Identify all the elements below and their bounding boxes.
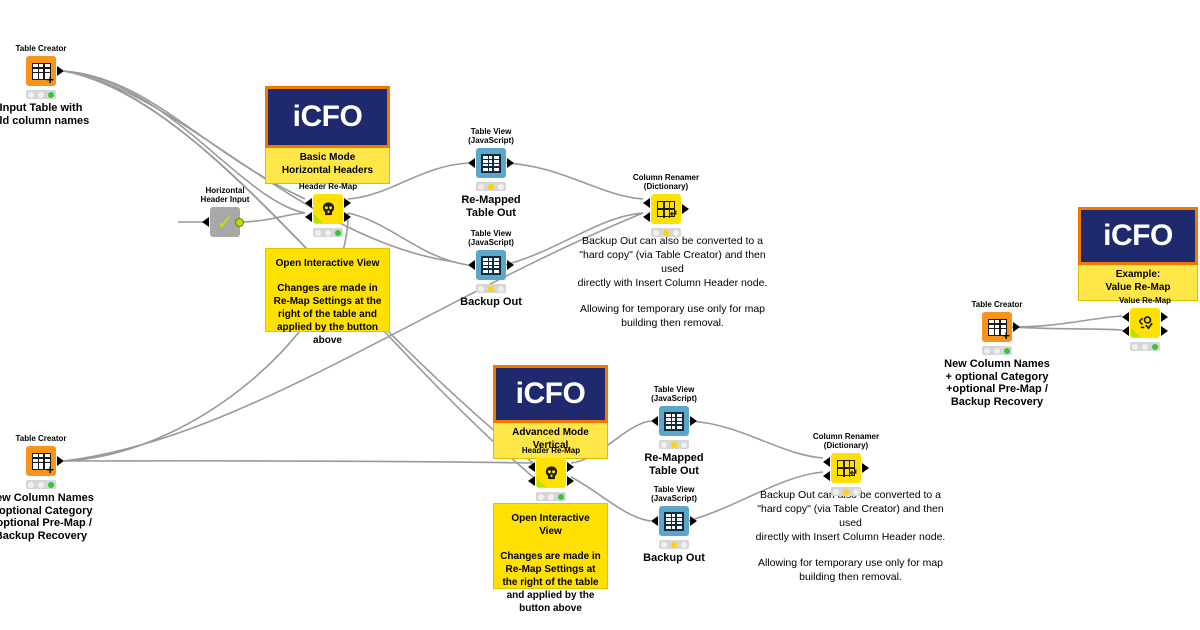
node-label-line1: New Column Names <box>0 492 94 505</box>
icfo-logo-text: iCFO <box>1103 219 1173 253</box>
node-body[interactable] <box>536 458 566 488</box>
node-label-line1: Re-Mapped <box>461 194 520 207</box>
node-label-line2: + optional Category <box>0 505 94 518</box>
annotation-title: Open Interactive View <box>272 257 383 270</box>
icfo-logo: iCFO <box>265 86 390 148</box>
node-label-line1: New Column Names <box>944 358 1050 371</box>
table-view-icon <box>664 512 684 531</box>
node-status-bar <box>1130 342 1160 351</box>
node-body[interactable]: ↵ <box>831 453 861 483</box>
table-view-icon <box>481 256 501 275</box>
input-port[interactable] <box>202 217 209 227</box>
node-type-text: Horizontal Header Input <box>194 186 256 204</box>
annotation-body: Changes are made in Re-Map Settings at t… <box>500 550 601 615</box>
plus-icon: + <box>46 465 54 475</box>
node-label-line2: Table Out <box>644 465 703 478</box>
flow-variable-output-port[interactable] <box>235 218 244 227</box>
output-port-1[interactable] <box>1161 312 1168 322</box>
output-port-2[interactable] <box>1161 326 1168 336</box>
output-port[interactable] <box>507 260 514 270</box>
output-port-2[interactable] <box>567 476 574 486</box>
input-port[interactable] <box>651 416 658 426</box>
backup-note-line4: Allowing for temporary use only for map <box>570 302 775 316</box>
node-type-label: Table View (JavaScript) <box>651 485 697 503</box>
backup-note-line3: directly with Insert Column Header node. <box>570 276 775 290</box>
node-label: Input Table with old column names <box>0 102 89 127</box>
annotation-backup-note-basic: Backup Out can also be converted to a "h… <box>570 234 775 330</box>
node-type-label: Horizontal Header Input <box>194 186 256 204</box>
node-type-label: Table View (JavaScript) <box>651 385 697 403</box>
node-body[interactable] <box>476 250 506 280</box>
icfo-caption: Basic Mode Horizontal Headers <box>265 148 390 184</box>
plus-icon: + <box>1002 331 1010 341</box>
input-port-2[interactable] <box>823 471 830 481</box>
output-port[interactable] <box>690 416 697 426</box>
node-status-bar <box>982 346 1012 355</box>
node-status-bar <box>659 540 689 549</box>
input-port-1[interactable] <box>1122 312 1129 322</box>
icfo-logo-text: iCFO <box>516 377 586 411</box>
output-port[interactable] <box>57 66 64 76</box>
node-status-bar <box>26 480 56 489</box>
workflow-canvas[interactable]: iCFO Basic Mode Horizontal Headers iCFO … <box>0 0 1200 630</box>
node-type-label: Table Creator <box>16 44 67 53</box>
output-port[interactable] <box>862 463 869 473</box>
node-type-line1: Table View <box>468 127 514 136</box>
input-port[interactable] <box>468 158 475 168</box>
interactive-view-flag-icon <box>314 214 323 223</box>
node-body[interactable]: + <box>26 446 56 476</box>
input-port-2[interactable] <box>305 212 312 222</box>
icfo-sticky-value-remap-example[interactable]: iCFO Example: Value Re-Map <box>1078 207 1198 301</box>
annotation-open-interactive-view-advanced[interactable]: Open Interactive View Changes are made i… <box>493 503 608 589</box>
node-label-line3: +optional Pre-Map / <box>0 517 94 530</box>
node-horizontal-header-input[interactable]: Horizontal Header Input ✓ <box>210 207 240 237</box>
node-remapped-table-out-basic[interactable]: Table View (JavaScript) Re-Mapped Table … <box>476 148 506 178</box>
node-column-renamer-basic[interactable]: Column Renamer (Dictionary) ↵ <box>651 194 681 224</box>
annotation-title: Open Interactive View <box>500 512 601 538</box>
node-type-line1: Table View <box>651 485 697 494</box>
node-status-bar <box>536 492 566 501</box>
column-renamer-icon: ↵ <box>657 201 675 217</box>
node-type-line1: Column Renamer <box>813 432 879 441</box>
icfo-sticky-advanced-mode[interactable]: iCFO Advanced Mode Vertical <box>493 365 608 459</box>
input-port-1[interactable] <box>643 198 650 208</box>
node-type-label: Column Renamer (Dictionary) <box>633 173 699 191</box>
backup-note-line3: directly with Insert Column Header node. <box>748 530 953 544</box>
node-new-column-names-table-creator[interactable]: Table Creator + New Column Names + optio… <box>26 446 56 476</box>
node-type-line1: Table View <box>651 385 697 394</box>
node-value-remap-table-creator[interactable]: Table Creator + New Column Names + optio… <box>982 312 1012 342</box>
icfo-logo-text: iCFO <box>293 100 363 134</box>
output-port-2[interactable] <box>344 212 351 222</box>
output-port[interactable] <box>690 516 697 526</box>
node-status-bar <box>476 182 506 191</box>
node-type-label: Table Creator <box>16 434 67 443</box>
node-remapped-table-out-advanced[interactable]: Table View (JavaScript) Re-Mapped Table … <box>659 406 689 436</box>
output-port[interactable] <box>1013 322 1020 332</box>
output-port[interactable] <box>507 158 514 168</box>
node-backup-out-advanced[interactable]: Table View (JavaScript) Backup Out <box>659 506 689 536</box>
node-type-line2: (JavaScript) <box>468 136 514 145</box>
node-label: Re-Mapped Table Out <box>461 194 520 219</box>
plus-icon: + <box>46 75 54 85</box>
node-body[interactable]: ✓ <box>210 207 240 237</box>
node-status-bar <box>313 228 343 237</box>
icfo-caption-line2: Value Re-Map <box>1082 282 1194 295</box>
icfo-caption-line1: Advanced Mode <box>497 427 604 440</box>
node-status-bar <box>651 228 681 237</box>
node-body[interactable] <box>476 148 506 178</box>
input-port-1[interactable] <box>823 457 830 467</box>
node-type-line1: Column Renamer <box>633 173 699 182</box>
node-type-label: Column Renamer (Dictionary) <box>813 432 879 450</box>
node-body[interactable] <box>659 506 689 536</box>
node-status-bar <box>831 487 861 496</box>
spacer <box>748 544 953 556</box>
output-port-1[interactable] <box>344 198 351 208</box>
node-input-table-creator[interactable]: Table Creator + Input Table with old col… <box>26 56 56 86</box>
backup-note-line5: building then removal. <box>748 570 953 584</box>
node-value-remap[interactable]: Value Re-Map <box>1130 308 1160 338</box>
icfo-logo: iCFO <box>493 365 608 423</box>
column-renamer-icon: ↵ <box>837 460 855 476</box>
input-port-2[interactable] <box>1122 326 1129 336</box>
node-label-line2: Table Out <box>461 207 520 220</box>
node-body[interactable] <box>1130 308 1160 338</box>
node-type-label: Value Re-Map <box>1119 296 1171 305</box>
backup-note-line4: Allowing for temporary use only for map <box>748 556 953 570</box>
node-label-line3: +optional Pre-Map / <box>944 383 1050 396</box>
interactive-view-flag-icon <box>1131 328 1140 337</box>
table-view-icon <box>481 154 501 173</box>
node-type-line2: (Dictionary) <box>633 182 699 191</box>
interactive-view-flag-icon <box>537 478 546 487</box>
annotation-open-interactive-view-basic[interactable]: Open Interactive View Changes are made i… <box>265 248 390 332</box>
spacer <box>570 290 775 302</box>
backup-note-line2: "hard copy" (via Table Creator) and then… <box>748 502 953 530</box>
node-label-line1: Input Table with <box>0 102 89 115</box>
node-label: New Column Names + optional Category +op… <box>0 492 94 542</box>
icfo-caption-line1: Example: <box>1082 269 1194 282</box>
node-label-line2: old column names <box>0 115 89 128</box>
annotation-backup-note-advanced: Backup Out can also be converted to a "h… <box>748 488 953 584</box>
node-status-bar <box>476 284 506 293</box>
node-type-line2: (Dictionary) <box>813 441 879 450</box>
icfo-caption-line1: Basic Mode <box>269 152 386 165</box>
node-type-line2: (JavaScript) <box>651 394 697 403</box>
checkmark-icon: ✓ <box>217 213 234 231</box>
node-body[interactable]: + <box>26 56 56 86</box>
node-header-remap-basic[interactable]: Header Re-Map <box>313 194 343 224</box>
input-port-1[interactable] <box>305 198 312 208</box>
node-header-remap-advanced[interactable]: Header Re-Map <box>536 458 566 488</box>
input-port-2[interactable] <box>643 212 650 222</box>
icfo-logo: iCFO <box>1078 207 1198 265</box>
node-body[interactable]: + <box>982 312 1012 342</box>
node-type-label: Table View (JavaScript) <box>468 229 514 247</box>
node-body[interactable] <box>313 194 343 224</box>
node-type-label: Table Creator <box>972 300 1023 309</box>
node-type-line2: (JavaScript) <box>468 238 514 247</box>
output-port[interactable] <box>682 204 689 214</box>
node-body[interactable]: ↵ <box>651 194 681 224</box>
node-column-renamer-advanced[interactable]: Column Renamer (Dictionary) ↵ <box>831 453 861 483</box>
node-status-bar <box>26 90 56 99</box>
annotation-body: Changes are made in Re-Map Settings at t… <box>272 282 383 347</box>
node-type-label: Table View (JavaScript) <box>468 127 514 145</box>
node-label: Backup Out <box>643 552 705 565</box>
icfo-sticky-basic-mode[interactable]: iCFO Basic Mode Horizontal Headers <box>265 86 390 184</box>
output-port-1[interactable] <box>567 462 574 472</box>
node-backup-out-basic[interactable]: Table View (JavaScript) Backup Out <box>476 250 506 280</box>
node-label: Re-Mapped Table Out <box>644 452 703 477</box>
node-label: Backup Out <box>460 296 522 309</box>
icfo-caption-line2: Horizontal Headers <box>269 165 386 178</box>
input-port[interactable] <box>651 516 658 526</box>
node-status-bar <box>659 440 689 449</box>
table-view-icon <box>664 412 684 431</box>
node-label-line2: + optional Category <box>944 371 1050 384</box>
node-label-line1: Re-Mapped <box>644 452 703 465</box>
node-type-line1: Table View <box>468 229 514 238</box>
input-port-2[interactable] <box>528 476 535 486</box>
node-type-line2: (JavaScript) <box>651 494 697 503</box>
input-port-1[interactable] <box>528 462 535 472</box>
backup-note-line2: "hard copy" (via Table Creator) and then… <box>570 248 775 276</box>
input-port[interactable] <box>468 260 475 270</box>
node-type-label: Header Re-Map <box>522 446 580 455</box>
node-label: New Column Names + optional Category +op… <box>944 358 1050 408</box>
output-port[interactable] <box>57 456 64 466</box>
node-label-line4: Backup Recovery <box>0 530 94 543</box>
node-label-line4: Backup Recovery <box>944 396 1050 409</box>
node-body[interactable] <box>659 406 689 436</box>
backup-note-line5: building then removal. <box>570 316 775 330</box>
node-type-label: Header Re-Map <box>299 182 357 191</box>
